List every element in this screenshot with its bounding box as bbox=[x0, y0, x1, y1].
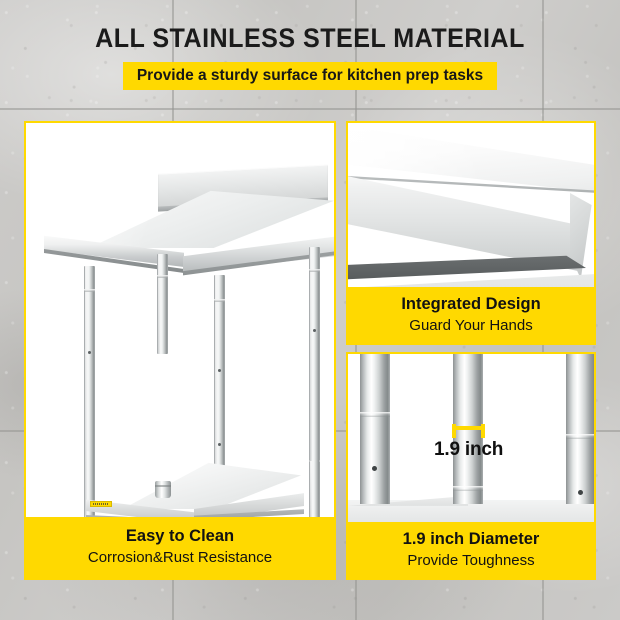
leg-bolt-front-right bbox=[218, 369, 221, 372]
caption-title: Integrated Design bbox=[352, 294, 590, 315]
table-leg-back-right bbox=[309, 247, 320, 461]
closeup-leg-right bbox=[566, 354, 594, 504]
page-title: ALL STAINLESS STEEL MATERIAL bbox=[22, 0, 599, 52]
leg-ring-front-right bbox=[214, 299, 225, 302]
closeup-leg-left bbox=[360, 354, 390, 504]
caption-subtitle: Corrosion&Rust Resistance bbox=[30, 548, 330, 568]
caption-subtitle: Guard Your Hands bbox=[352, 316, 590, 336]
feature-panel-easy-to-clean: Easy to Clean Corrosion&Rust Resistance bbox=[24, 121, 336, 580]
product-photo-leg-closeup: 1.9 inch bbox=[348, 354, 594, 522]
product-photo-edge-closeup bbox=[348, 123, 594, 287]
caption-integrated-design: Integrated Design Guard Your Hands bbox=[348, 287, 594, 343]
leg-bolt-left bbox=[372, 466, 377, 471]
table-leg-back-right-lower bbox=[309, 461, 320, 517]
table-leg-front-left bbox=[84, 266, 95, 517]
leg-joint-seam-center bbox=[453, 486, 483, 491]
leg-illustration: 1.9 inch bbox=[348, 354, 594, 522]
dimension-line bbox=[453, 426, 483, 430]
page-subtitle: Provide a sturdy surface for kitchen pre… bbox=[123, 62, 497, 90]
leg-ring-back-right bbox=[309, 269, 320, 272]
leg-ring-front-left bbox=[84, 289, 95, 292]
leg-bolt-front-left bbox=[88, 351, 91, 354]
subtitle-container: Provide a sturdy surface for kitchen pre… bbox=[0, 62, 620, 90]
feature-panel-leg-diameter: 1.9 inch 1.9 inch Diameter Provide Tough… bbox=[346, 352, 596, 580]
leg-joint-seam-left bbox=[360, 412, 390, 417]
tile-grout-line-horizontal-1 bbox=[0, 108, 620, 110]
leg-bolt-back-right bbox=[313, 329, 316, 332]
caption-subtitle: Provide Toughness bbox=[352, 551, 590, 571]
caption-title: Easy to Clean bbox=[30, 526, 330, 547]
table-foot-back-left bbox=[155, 481, 171, 498]
table-leg-back-left bbox=[157, 254, 168, 354]
edge-illustration bbox=[348, 123, 594, 287]
product-photo-full-table bbox=[26, 123, 334, 517]
header: ALL STAINLESS STEEL MATERIAL Provide a s… bbox=[0, 0, 620, 90]
dimension-cap-right bbox=[481, 424, 485, 438]
product-label-sticker bbox=[90, 501, 112, 507]
dimension-label: 1.9 inch bbox=[434, 439, 503, 461]
leg-bolt-front-right-2 bbox=[218, 443, 221, 446]
leg-bolt-right bbox=[578, 490, 583, 495]
caption-leg-diameter: 1.9 inch Diameter Provide Toughness bbox=[348, 522, 594, 578]
caption-title: 1.9 inch Diameter bbox=[352, 529, 590, 550]
dimension-cap-left bbox=[452, 424, 456, 438]
caption-easy-to-clean: Easy to Clean Corrosion&Rust Resistance bbox=[26, 517, 334, 578]
leg-ring-back-left bbox=[157, 275, 168, 278]
table-illustration bbox=[26, 123, 334, 517]
leg-joint-seam-right bbox=[566, 434, 594, 439]
feature-panel-integrated-design: Integrated Design Guard Your Hands bbox=[346, 121, 596, 345]
